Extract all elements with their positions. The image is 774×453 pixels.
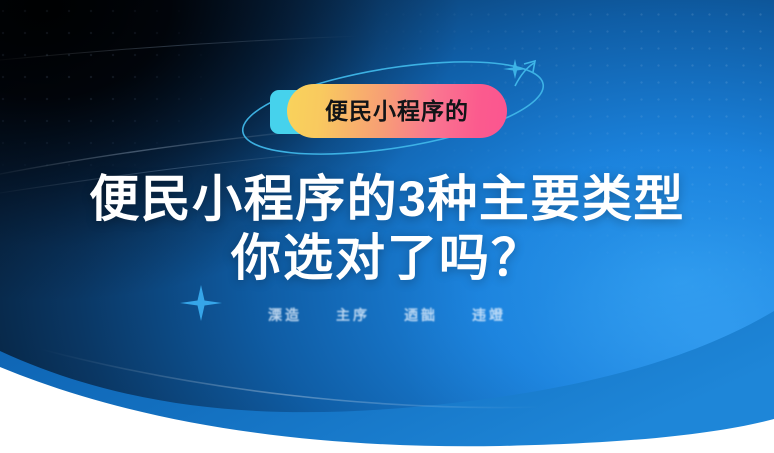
headline-line-2: 你选对了吗？	[0, 229, 774, 288]
sparkle-icon-badge	[502, 58, 528, 80]
headline-line-1: 便民小程序的3种主要类型	[0, 170, 774, 229]
badge: 便民小程序的	[279, 84, 507, 138]
badge-pill: 便民小程序的	[287, 84, 507, 138]
headline: 便民小程序的3种主要类型 你选对了吗？	[0, 170, 774, 288]
promo-banner: 便民小程序的 便民小程序的3种主要类型 你选对了吗？ 溧造 主序 迺韷 违竳	[0, 0, 774, 453]
badge-label: 便民小程序的	[325, 100, 469, 123]
bottom-wave-decoration	[0, 303, 774, 453]
